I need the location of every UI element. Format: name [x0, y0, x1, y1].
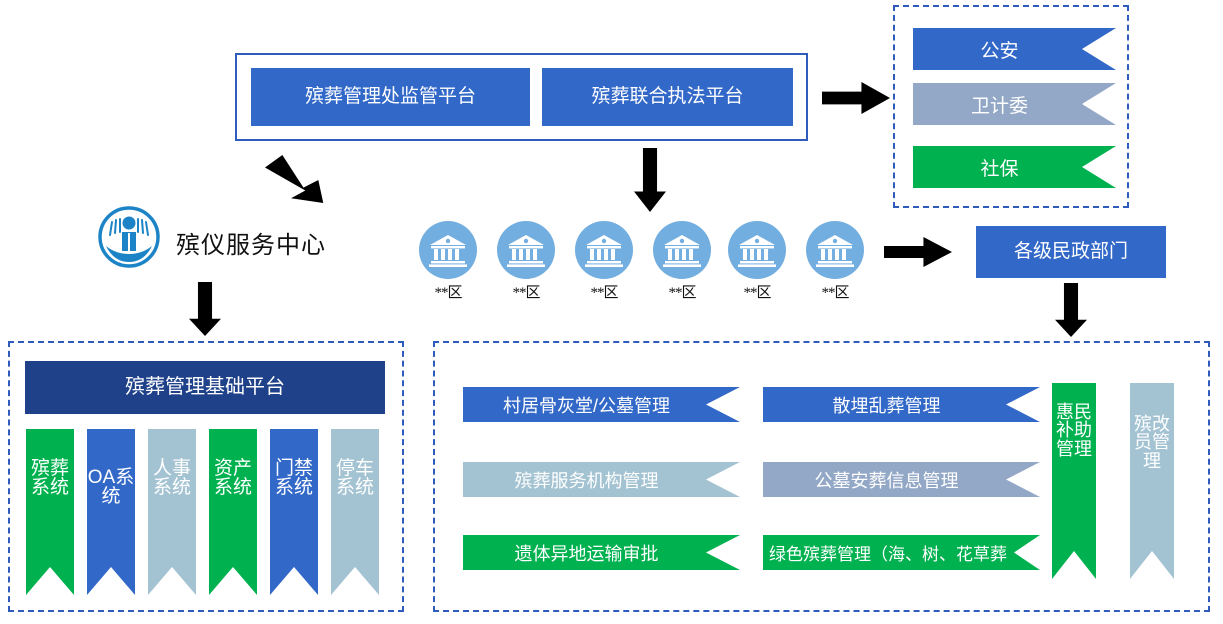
system-label-assets: 资产系统	[209, 459, 257, 498]
business-label-cemetery-info: 公墓安葬信息管理	[815, 467, 959, 493]
district-item-3[interactable]: **区	[575, 221, 633, 297]
supervision-platform-box[interactable]: 殡葬管理处监管平台	[251, 68, 530, 126]
diagram-canvas: 殡葬管理处监管平台 殡葬联合执法平台 公安 卫计委 社保	[0, 0, 1223, 624]
system-label-oa: OA系统	[87, 468, 135, 507]
arrow-districts-to-civil-affairs-icon	[884, 237, 952, 267]
base-platform-header[interactable]: 殡葬管理基础平台	[25, 361, 385, 414]
system-label-funeral: 殡葬系统	[26, 459, 74, 498]
district-label-4: **区	[653, 281, 711, 302]
district-item-5[interactable]: **区	[728, 221, 786, 297]
district-item-1[interactable]: **区	[419, 221, 477, 297]
district-item-2[interactable]: **区	[497, 221, 555, 297]
system-label-parking: 停车系统	[331, 459, 379, 498]
business-ribbon-scattered-burial[interactable]: 散埋乱葬管理	[763, 387, 1040, 422]
business-ribbon-subsidy[interactable]: 惠民补助管理	[1052, 383, 1096, 579]
supervision-platform-label: 殡葬管理处监管平台	[305, 86, 476, 108]
district-label-5: **区	[728, 281, 786, 302]
government-building-icon	[806, 221, 864, 279]
district-label-3: **区	[575, 281, 633, 302]
system-label-access-control: 门禁系统	[270, 459, 318, 498]
business-ribbon-village-ossuary[interactable]: 村居骨灰堂/公墓管理	[463, 387, 740, 422]
business-label-scattered-burial: 散埋乱葬管理	[833, 392, 941, 418]
government-building-icon	[728, 221, 786, 279]
business-label-subsidy: 惠民补助管理	[1052, 403, 1096, 458]
base-platform-header-label: 殡葬管理基础平台	[125, 376, 285, 399]
business-ribbon-body-transport[interactable]: 遗体异地运输审批	[463, 535, 740, 570]
system-label-hr: 人事系统	[148, 459, 196, 498]
arrow-top-to-service-center-icon	[265, 155, 327, 203]
district-label-1: **区	[419, 281, 477, 302]
arrow-service-center-to-base-platform-icon	[189, 282, 221, 336]
business-label-green-burial: 绿色殡葬管理（海、树、花草葬	[769, 540, 1007, 565]
district-label-6: **区	[806, 281, 864, 302]
business-ribbon-reform-officer[interactable]: 殡改员管理	[1130, 383, 1174, 579]
joint-enforcement-platform-box[interactable]: 殡葬联合执法平台	[542, 68, 793, 126]
arrow-civil-affairs-to-business-icon	[1055, 283, 1087, 337]
district-item-4[interactable]: **区	[653, 221, 711, 297]
government-building-icon	[653, 221, 711, 279]
government-building-icon	[419, 221, 477, 279]
government-building-icon	[497, 221, 555, 279]
civil-affairs-box[interactable]: 各级民政部门	[976, 226, 1166, 278]
business-label-village-ossuary: 村居骨灰堂/公墓管理	[503, 392, 670, 418]
arrow-top-to-agencies-icon	[822, 82, 890, 114]
business-ribbon-green-burial[interactable]: 绿色殡葬管理（海、树、花草葬	[763, 535, 1040, 570]
district-label-2: **区	[497, 281, 555, 302]
agency-label-public-security: 公安	[980, 36, 1018, 63]
business-ribbon-cemetery-info[interactable]: 公墓安葬信息管理	[763, 462, 1040, 497]
business-label-service-agency: 殡葬服务机构管理	[515, 467, 659, 493]
agency-label-health-family-planning: 卫计委	[971, 91, 1028, 118]
arrow-top-to-districts-icon	[634, 148, 666, 212]
joint-enforcement-platform-label: 殡葬联合执法平台	[591, 86, 743, 108]
civil-affairs-label: 各级民政部门	[1014, 241, 1128, 263]
agency-label-social-security: 社保	[980, 154, 1018, 181]
business-label-body-transport: 遗体异地运输审批	[515, 540, 659, 566]
district-item-6[interactable]: **区	[806, 221, 864, 297]
funeral-service-logo-icon	[98, 206, 160, 268]
business-label-reform-officer: 殡改员管理	[1130, 415, 1174, 470]
business-ribbon-service-agency[interactable]: 殡葬服务机构管理	[463, 462, 740, 497]
service-center-label: 殡仪服务中心	[176, 225, 326, 260]
government-building-icon	[575, 221, 633, 279]
